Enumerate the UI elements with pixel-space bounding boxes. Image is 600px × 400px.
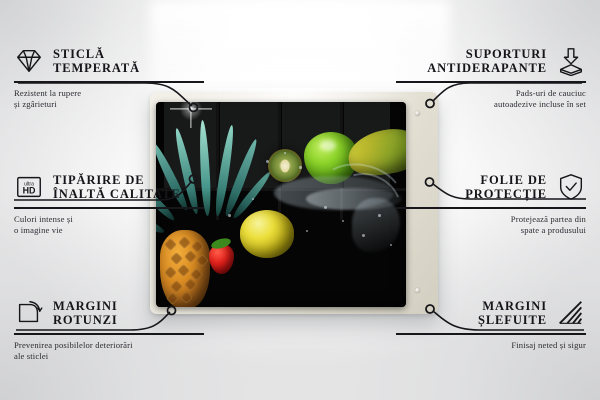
feature-rounded-edges[interactable]: MARGINI ROTUNZI Prevenirea posibilelor d… xyxy=(14,296,204,362)
feature-protective-film[interactable]: FOLIE DE PROTECȚIE Protejează partea din… xyxy=(396,170,586,236)
feature-tempered-glass[interactable]: STICLĂ TEMPERATĂ Rezistent la rupere și … xyxy=(14,44,204,110)
feature-divider xyxy=(396,207,586,209)
feature-title-line2: ANTIDERAPANTE xyxy=(427,61,547,75)
feature-polished-edges[interactable]: MARGINI ȘLEFUITE Finisaj neted și sigur xyxy=(396,296,586,351)
feature-sub-line1: Rezistent la rupere xyxy=(14,88,81,98)
press-pad-icon xyxy=(556,46,586,76)
feature-anti-slip-pads[interactable]: SUPORTURI ANTIDERAPANTE Pads-uri de cauc… xyxy=(396,44,586,110)
feature-title-line2: ROTUNZI xyxy=(53,313,118,327)
strawberry-leaf xyxy=(210,236,232,250)
ultra-hd-icon: ultra HD xyxy=(14,172,44,202)
feature-title-line1: FOLIE DE xyxy=(480,173,547,187)
feature-title-line1: SUPORTURI xyxy=(466,47,547,61)
feature-sub-line2: o imagine vie xyxy=(14,225,63,235)
feature-sub-line2: și zgârieturi xyxy=(14,99,57,109)
feature-sub-line1: Finisaj neted și sigur xyxy=(511,340,586,350)
feature-divider xyxy=(396,81,586,83)
feature-sub-line2: spate a produsului xyxy=(521,225,586,235)
feature-title-line2: PROTECȚIE xyxy=(465,187,547,201)
hatch-lines-icon xyxy=(556,298,586,328)
svg-text:HD: HD xyxy=(23,186,36,196)
feature-high-quality-print[interactable]: ultra HD TIPĂRIRE DE ÎNALTĂ CALITATE Cul… xyxy=(14,170,204,236)
diamond-icon xyxy=(14,46,44,76)
feature-title-line1: STICLĂ xyxy=(53,47,105,61)
feature-divider xyxy=(14,81,204,83)
mounting-screw xyxy=(415,288,420,293)
feature-sub-line1: Prevenirea posibilelor deteriorări xyxy=(14,340,133,350)
feature-divider xyxy=(14,333,204,335)
feature-sub-line1: Pads-uri de cauciuc xyxy=(516,88,586,98)
feature-title-line1: MARGINI xyxy=(53,299,118,313)
water-splash xyxy=(352,198,400,252)
feature-sub-line1: Protejează partea din xyxy=(511,214,586,224)
feature-title-line1: MARGINI xyxy=(482,299,547,313)
feature-title-line2: ȘLEFUITE xyxy=(478,313,547,327)
mounting-screw xyxy=(415,111,420,116)
feature-title-line2: TEMPERATĂ xyxy=(53,61,140,75)
feature-title-line1: TIPĂRIRE DE xyxy=(53,173,145,187)
strawberry xyxy=(209,244,234,274)
shield-check-icon xyxy=(556,172,586,202)
lemon xyxy=(240,210,294,258)
product-infographic: STICLĂ TEMPERATĂ Rezistent la rupere și … xyxy=(0,0,600,400)
feature-sub-line1: Culori intense și xyxy=(14,214,73,224)
feature-divider xyxy=(14,207,204,209)
feature-title-line2: ÎNALTĂ CALITATE xyxy=(53,187,181,201)
feature-divider xyxy=(396,333,586,335)
feature-sub-line2: ale sticlei xyxy=(14,351,48,361)
rounded-corner-icon xyxy=(14,298,44,328)
feature-sub-line2: autoadezive incluse în set xyxy=(494,99,586,109)
